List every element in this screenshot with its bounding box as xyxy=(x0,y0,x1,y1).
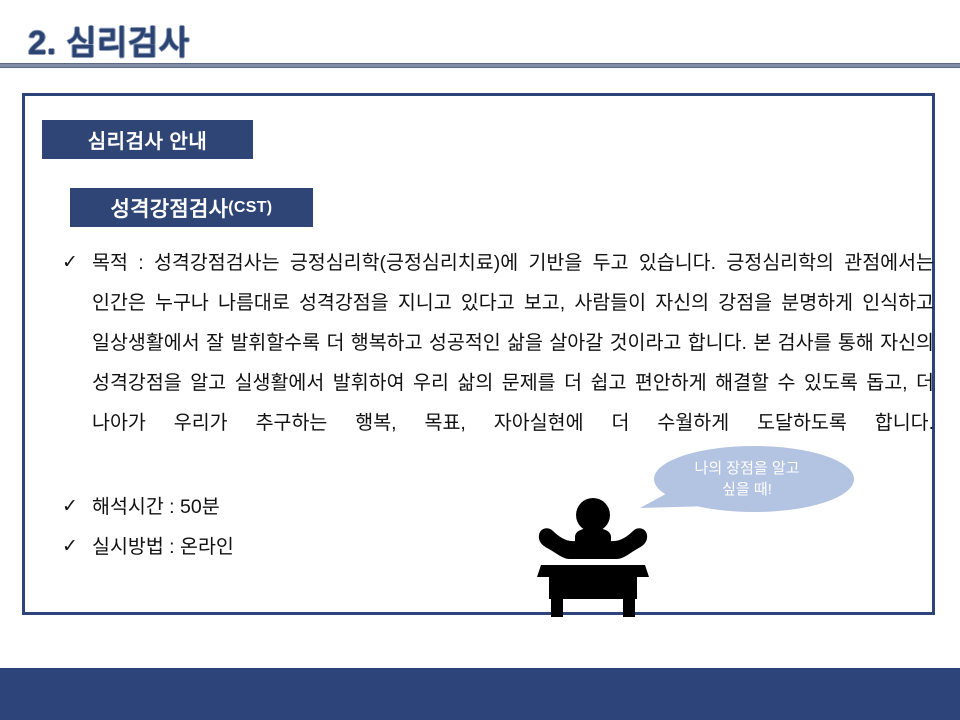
check-mark-icon: ✓ xyxy=(58,243,92,283)
check-mark-icon: ✓ xyxy=(58,487,92,527)
title-divider xyxy=(0,63,960,68)
list-item: ✓ 실시방법 : 온라인 xyxy=(58,527,934,567)
badge-test-name-label: 성격강점검사 xyxy=(111,193,229,223)
page-title: 2. 심리검사 xyxy=(28,16,190,64)
badge-section-header-label: 심리검사 안내 xyxy=(88,125,207,154)
badge-section-header: 심리검사 안내 xyxy=(42,120,253,159)
speech-bubble: 나의 장점을 알고 싶을 때! xyxy=(640,446,854,526)
badge-test-name-abbreviation: (CST) xyxy=(228,199,272,217)
check-mark-icon: ✓ xyxy=(58,527,92,567)
speech-bubble-icon xyxy=(640,446,854,526)
slide-canvas: 2. 심리검사 심리검사 안내 성격강점검사(CST) ✓ 목적 : 성격강점검… xyxy=(0,0,960,720)
badge-test-name: 성격강점검사(CST) xyxy=(70,188,313,227)
footer-bar xyxy=(0,668,960,720)
list-item-text: 실시방법 : 온라인 xyxy=(92,527,934,567)
person-at-desk-icon xyxy=(527,497,659,617)
